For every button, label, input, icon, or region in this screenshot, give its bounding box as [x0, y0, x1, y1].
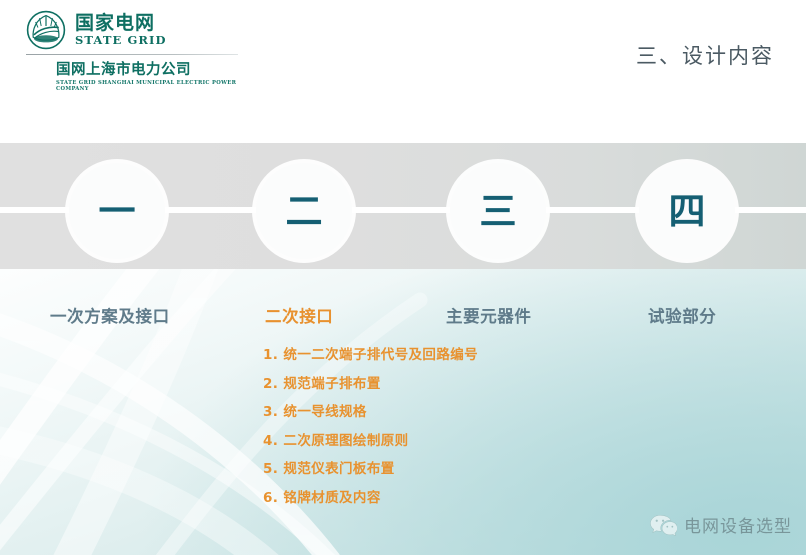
wechat-watermark: 电网设备选型 — [650, 512, 792, 537]
logo-text-block: 国家电网 STATE GRID — [75, 14, 167, 47]
list-item: 3. 统一导线规格 — [263, 398, 593, 427]
logo-cn-name: 国家电网 — [75, 14, 167, 33]
step-numeral-1: 一 — [99, 193, 136, 230]
sub-item-list: 1. 统一二次端子排代号及回路编号 2. 规范端子排布置 3. 统一导线规格 4… — [263, 341, 593, 512]
logo-en-subsidiary: STATE GRID SHANGHAI MUNICIPAL ELECTRIC P… — [56, 80, 266, 92]
step-circle-4[interactable]: 四 — [639, 163, 735, 259]
list-item: 6. 铭牌材质及内容 — [263, 484, 593, 513]
step-numeral-2: 二 — [286, 193, 323, 230]
list-item: 2. 规范端子排布置 — [263, 370, 593, 399]
step-circle-1[interactable]: 一 — [69, 163, 165, 259]
logo-divider — [26, 54, 238, 55]
step-numeral-3: 三 — [480, 193, 517, 230]
watermark-text: 电网设备选型 — [684, 512, 792, 537]
step-label-1: 一次方案及接口 — [50, 303, 170, 327]
company-logo: 国家电网 STATE GRID 国网上海市电力公司 STATE GRID SHA… — [26, 10, 266, 92]
logo-cn-subsidiary: 国网上海市电力公司 — [56, 58, 266, 79]
state-grid-logo-icon — [26, 10, 66, 50]
step-label-3: 主要元器件 — [446, 303, 532, 327]
logo-primary-row: 国家电网 STATE GRID — [26, 10, 266, 50]
slide-canvas: 国家电网 STATE GRID 国网上海市电力公司 STATE GRID SHA… — [0, 0, 806, 555]
slide-header: 国家电网 STATE GRID 国网上海市电力公司 STATE GRID SHA… — [0, 0, 806, 143]
step-circle-3[interactable]: 三 — [450, 163, 546, 259]
list-item: 5. 规范仪表门板布置 — [263, 455, 593, 484]
step-label-2: 二次接口 — [265, 303, 333, 327]
list-item: 4. 二次原理图绘制原则 — [263, 427, 593, 456]
page-title: 三、设计内容 — [636, 40, 774, 70]
logo-en-name: STATE GRID — [75, 35, 167, 47]
wechat-icon — [650, 514, 677, 536]
step-circle-2[interactable]: 二 — [256, 163, 352, 259]
step-label-4: 试验部分 — [648, 303, 716, 327]
list-item: 1. 统一二次端子排代号及回路编号 — [263, 341, 593, 370]
step-numeral-4: 四 — [669, 193, 706, 230]
